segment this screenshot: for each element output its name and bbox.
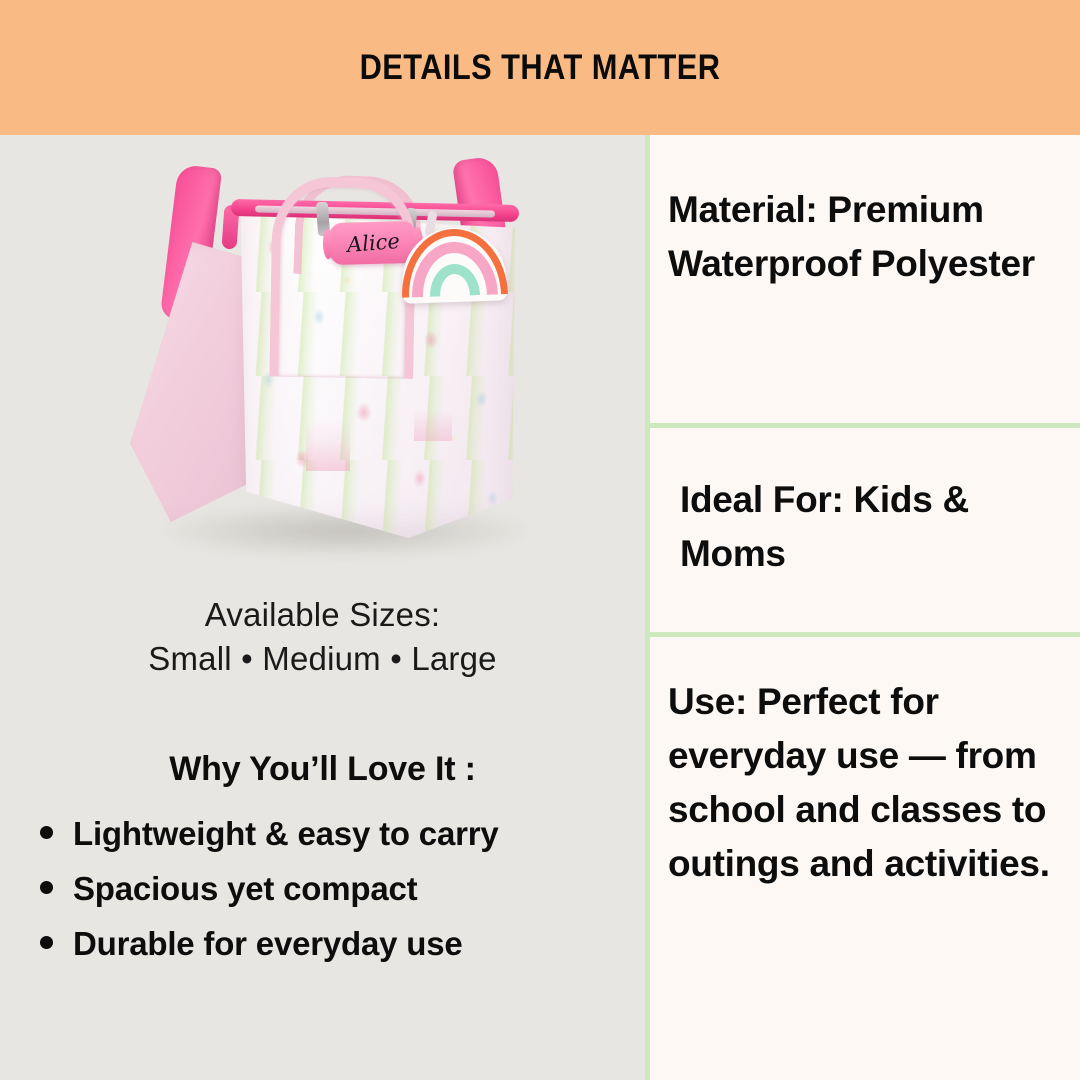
rope-handle-front: [269, 176, 416, 379]
benefit-label: Durable for everyday use: [73, 925, 463, 963]
why-love-it-title: Why You’ll Love It :: [0, 750, 645, 789]
list-item: Lightweight & easy to carry: [40, 815, 640, 853]
fact-panel-ideal-for: Ideal For: Kids & Moms: [650, 428, 1080, 632]
rainbow-charm-icon: [401, 226, 508, 304]
bag-side-gusset: [130, 242, 250, 522]
available-sizes-block: Available Sizes: Small • Medium • Large: [0, 593, 645, 681]
benefit-label: Lightweight & easy to carry: [73, 815, 499, 853]
bullet-icon: [40, 826, 53, 839]
body-area: Alice Available Sizes: Small • Medium • …: [0, 135, 1080, 1080]
fact-text-use: Use: Perfect for everyday use — from sch…: [668, 675, 1062, 891]
page-title: DETAILS THAT MATTER: [360, 48, 721, 88]
available-sizes-values: Small • Medium • Large: [0, 637, 645, 681]
right-column: Material: Premium Waterproof Polyester I…: [650, 135, 1080, 1080]
available-sizes-label: Available Sizes:: [0, 593, 645, 637]
monogram-name-text: Alice: [346, 229, 401, 257]
fact-panel-use: Use: Perfect for everyday use — from sch…: [650, 637, 1080, 1080]
product-image: Alice: [105, 150, 585, 580]
list-item: Spacious yet compact: [40, 870, 640, 908]
bullet-icon: [40, 881, 53, 894]
header-banner: DETAILS THAT MATTER: [0, 0, 1080, 135]
infographic-page: DETAILS THAT MATTER: [0, 0, 1080, 1080]
fact-panel-material: Material: Premium Waterproof Polyester: [650, 135, 1080, 423]
benefit-label: Spacious yet compact: [73, 870, 417, 908]
fact-text-ideal-for: Ideal For: Kids & Moms: [680, 473, 1062, 581]
benefits-list: Lightweight & easy to carry Spacious yet…: [40, 815, 640, 980]
bullet-icon: [40, 936, 53, 949]
fact-text-material: Material: Premium Waterproof Polyester: [668, 183, 1062, 291]
left-column: Alice Available Sizes: Small • Medium • …: [0, 135, 645, 1080]
list-item: Durable for everyday use: [40, 925, 640, 963]
